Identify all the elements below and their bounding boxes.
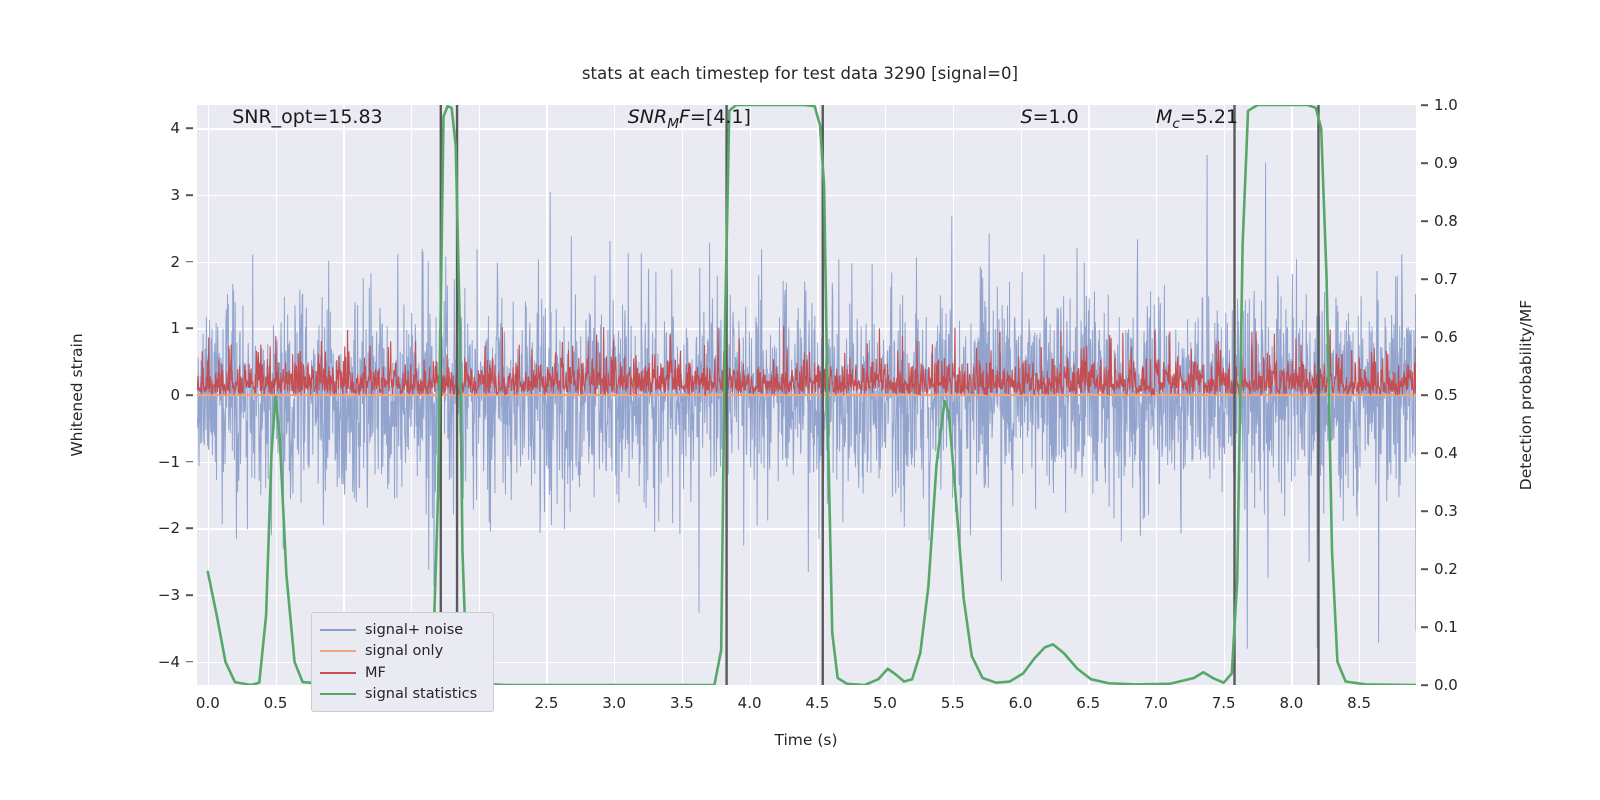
- y-tick-mark-right: [1421, 162, 1428, 164]
- annotation-chirp-mass: Mc=5.21: [1156, 106, 1238, 132]
- legend-label: signal+ noise: [365, 622, 463, 638]
- y-tick-mark-right: [1421, 394, 1428, 396]
- x-tick-label: 2.5: [535, 694, 559, 712]
- legend-label: signal only: [365, 643, 443, 659]
- x-tick-label: 0.0: [196, 694, 220, 712]
- y-tick-label-left: 1: [128, 319, 180, 337]
- x-tick-label: 8.0: [1279, 694, 1303, 712]
- y-tick-mark-left: [186, 461, 193, 463]
- y-tick-label-right: 0.0: [1434, 676, 1494, 694]
- x-tick-label: 5.5: [941, 694, 965, 712]
- y-tick-label-left: 4: [128, 119, 180, 137]
- y-tick-mark-left: [186, 261, 193, 263]
- y-tick-label-left: 2: [128, 253, 180, 271]
- y-tick-mark-left: [186, 394, 193, 396]
- y-tick-mark-right: [1421, 278, 1428, 280]
- plot-area: SNR_opt=15.83SNRMF=[4.1]S=1.0Mc=5.21: [197, 105, 1416, 685]
- legend-item[interactable]: signal statistics: [320, 684, 485, 706]
- y-tick-label-left: −4: [128, 653, 180, 671]
- legend-item[interactable]: signal only: [320, 641, 485, 663]
- annotation-snr-mf: SNRMF=[4.1]: [628, 106, 751, 132]
- y-tick-mark-left: [186, 194, 193, 196]
- x-tick-label: 8.5: [1347, 694, 1371, 712]
- y-tick-mark-left: [186, 661, 193, 663]
- y-tick-label-left: 3: [128, 186, 180, 204]
- y-tick-mark-left: [186, 128, 193, 130]
- y-tick-label-right: 0.6: [1434, 328, 1494, 346]
- chart-legend[interactable]: signal+ noisesignal onlyMFsignal statist…: [311, 612, 494, 712]
- annotation-snr-opt: SNR_opt=15.83: [232, 106, 382, 128]
- chart-title: stats at each timestep for test data 329…: [0, 64, 1600, 83]
- legend-color-swatch: [320, 693, 356, 695]
- y-tick-mark-right: [1421, 336, 1428, 338]
- y-tick-label-right: 0.5: [1434, 386, 1494, 404]
- y-axis-label-left: Whitened strain: [68, 333, 86, 456]
- y-tick-label-right: 0.1: [1434, 618, 1494, 636]
- y-tick-label-right: 0.9: [1434, 154, 1494, 172]
- y-tick-mark-right: [1421, 684, 1428, 686]
- y-tick-mark-left: [186, 528, 193, 530]
- x-tick-label: 6.0: [1009, 694, 1033, 712]
- legend-label: MF: [365, 665, 386, 681]
- y-tick-mark-left: [186, 328, 193, 330]
- y-tick-mark-right: [1421, 220, 1428, 222]
- x-tick-label: 7.0: [1144, 694, 1168, 712]
- x-tick-label: 4.0: [738, 694, 762, 712]
- legend-label: signal statistics: [365, 686, 477, 702]
- y-tick-mark-right: [1421, 568, 1428, 570]
- y-tick-label-right: 0.4: [1434, 444, 1494, 462]
- y-tick-label-right: 0.7: [1434, 270, 1494, 288]
- y-tick-mark-right: [1421, 626, 1428, 628]
- y-tick-label-left: 0: [128, 386, 180, 404]
- x-tick-label: 5.0: [873, 694, 897, 712]
- x-tick-label: 3.0: [602, 694, 626, 712]
- y-tick-label-left: −2: [128, 519, 180, 537]
- x-tick-label: 6.5: [1076, 694, 1100, 712]
- y-tick-label-right: 1.0: [1434, 96, 1494, 114]
- y-tick-mark-right: [1421, 510, 1428, 512]
- legend-color-swatch: [320, 672, 356, 674]
- y-tick-label-right: 0.3: [1434, 502, 1494, 520]
- y-tick-label-left: −1: [128, 453, 180, 471]
- plot-series-layer: [197, 105, 1416, 685]
- annotation-s-stat: S=1.0: [1021, 106, 1079, 128]
- legend-color-swatch: [320, 629, 356, 631]
- noise-trace: [197, 155, 1416, 649]
- y-tick-mark-right: [1421, 452, 1428, 454]
- x-tick-label: 3.5: [670, 694, 694, 712]
- y-tick-mark-left: [186, 594, 193, 596]
- x-tick-label: 7.5: [1212, 694, 1236, 712]
- y-tick-mark-right: [1421, 104, 1428, 106]
- x-tick-label: 0.5: [264, 694, 288, 712]
- legend-color-swatch: [320, 650, 356, 652]
- y-axis-label-right: Detection probability/MF: [1517, 300, 1535, 490]
- y-tick-label-right: 0.8: [1434, 212, 1494, 230]
- y-tick-label-right: 0.2: [1434, 560, 1494, 578]
- figure-canvas: stats at each timestep for test data 329…: [0, 0, 1600, 800]
- x-axis-label: Time (s): [774, 731, 837, 749]
- legend-item[interactable]: signal+ noise: [320, 619, 485, 641]
- x-tick-label: 4.5: [805, 694, 829, 712]
- legend-item[interactable]: MF: [320, 662, 485, 684]
- series-signal-plus-noise: [197, 155, 1416, 649]
- y-tick-label-left: −3: [128, 586, 180, 604]
